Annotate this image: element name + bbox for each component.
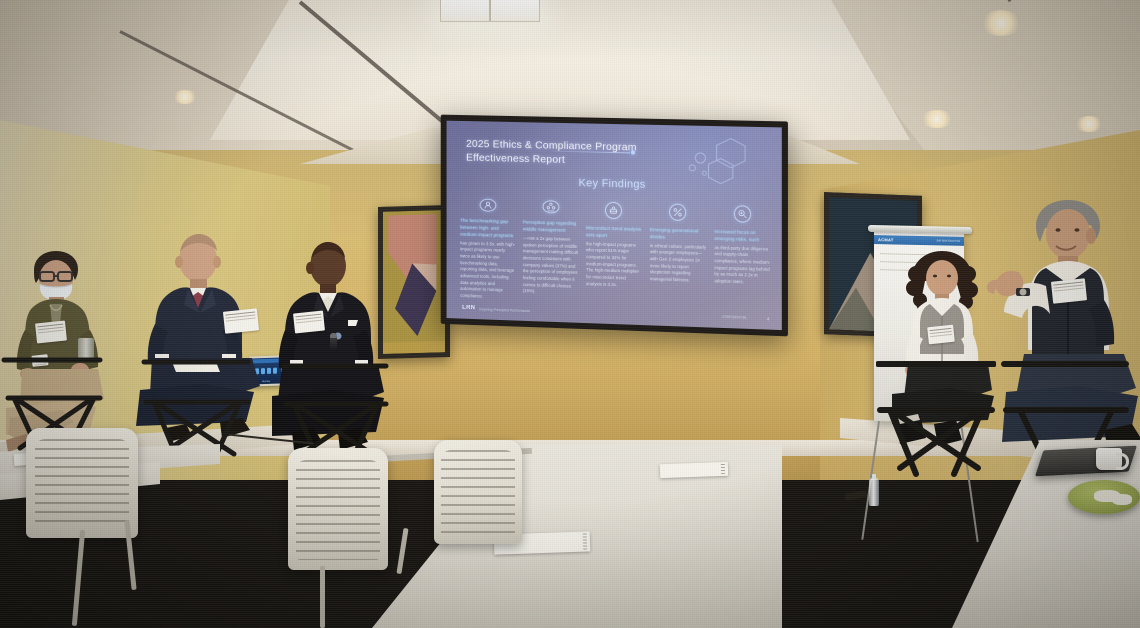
slide-page-number: 4	[767, 316, 770, 321]
downlight-icon	[920, 110, 954, 128]
notepad[interactable]	[660, 462, 728, 478]
finding-body: the high-impact programs who report 51% …	[586, 241, 642, 289]
floor-remote-control[interactable]	[845, 490, 868, 500]
green-plate[interactable]	[1068, 480, 1140, 514]
coffee-mug[interactable]	[1096, 448, 1122, 470]
finding-heading: Increased focus on emerging risks, such	[714, 229, 771, 245]
confidential-note: CONFIDENTIAL	[722, 315, 747, 320]
director-chair[interactable]	[876, 350, 996, 480]
perception-gap-icon	[542, 200, 559, 214]
finding-column: The benchmarking gap between high- and m…	[460, 198, 515, 295]
finding-heading: Emerging generational divides	[650, 227, 707, 242]
director-chair[interactable]	[280, 348, 390, 464]
skylight	[440, 0, 540, 22]
emerging-risks-search-icon	[734, 205, 751, 223]
chair-leg	[320, 566, 325, 628]
name-badge	[293, 310, 325, 333]
audience-chair[interactable]	[26, 428, 138, 538]
finding-body: as third-party due diligence and supply-…	[714, 245, 771, 287]
misconduct-trend-icon	[606, 202, 623, 219]
audience-chair[interactable]	[434, 440, 522, 544]
flipchart-brand-subtext: Self-Stick Easel Pad	[937, 239, 961, 242]
chair-leg	[396, 528, 408, 574]
name-badge	[1051, 278, 1087, 303]
audience-chair[interactable]	[288, 448, 388, 570]
slide-footer: LRN Inspiring Principled Performance	[462, 305, 530, 313]
name-badge	[223, 308, 259, 333]
generational-divide-icon	[670, 204, 687, 222]
chair-slats	[441, 450, 515, 535]
slide-findings-columns: The benchmarking gap between high- and m…	[460, 198, 771, 303]
chair-backrest	[26, 428, 138, 538]
downlight-icon	[1074, 116, 1104, 132]
chair-slats	[296, 460, 380, 560]
lrn-logo: LRN	[462, 305, 475, 311]
slide-title: 2025 Ethics & Compliance Program Effecti…	[466, 137, 674, 170]
footer-tagline: Inspiring Principled Performance	[479, 307, 530, 313]
finding-body: —now a 2x gap between spoken perception …	[523, 235, 578, 296]
finding-column: Perception gap regarding middle manageme…	[523, 200, 578, 297]
benchmarking-gap-icon	[479, 199, 496, 212]
chair-backrest	[434, 440, 522, 544]
finding-heading: Misconduct trend analysis sets apart	[586, 225, 642, 240]
finding-column: Misconduct trend analysis sets apart the…	[586, 201, 642, 299]
finding-heading: Perception gap regarding middle manageme…	[523, 220, 578, 235]
finding-heading: The benchmarking gap between high- and m…	[460, 218, 515, 240]
chair-leg	[72, 530, 85, 626]
projection-screen[interactable]: 2025 Ethics & Compliance Program Effecti…	[441, 115, 788, 337]
chair-slats	[35, 439, 129, 529]
flipchart-brand-label: ACMAT	[878, 237, 894, 242]
water-bottle[interactable]	[869, 478, 879, 506]
plate-food	[1112, 494, 1132, 505]
finding-body: in ethical culture, particularly with yo…	[650, 243, 707, 285]
presentation-slide: 2025 Ethics & Compliance Program Effecti…	[447, 121, 782, 330]
title-accent-dot-icon	[631, 150, 635, 154]
finding-column: Increased focus on emerging risks, such …	[714, 205, 771, 304]
finding-column: Emerging generational divides in ethical…	[650, 203, 707, 301]
name-badge	[927, 325, 955, 345]
downlight-icon	[172, 90, 198, 104]
downlight-icon	[980, 10, 1022, 36]
finding-body: has grown to 3.5x, with high-impact prog…	[460, 240, 515, 301]
chair-backrest	[288, 448, 388, 570]
flipchart-header-band: ACMAT Self-Stick Easel Pad	[874, 235, 964, 246]
conference-room-photo: 2025 Ethics & Compliance Program Effecti…	[0, 0, 1140, 628]
